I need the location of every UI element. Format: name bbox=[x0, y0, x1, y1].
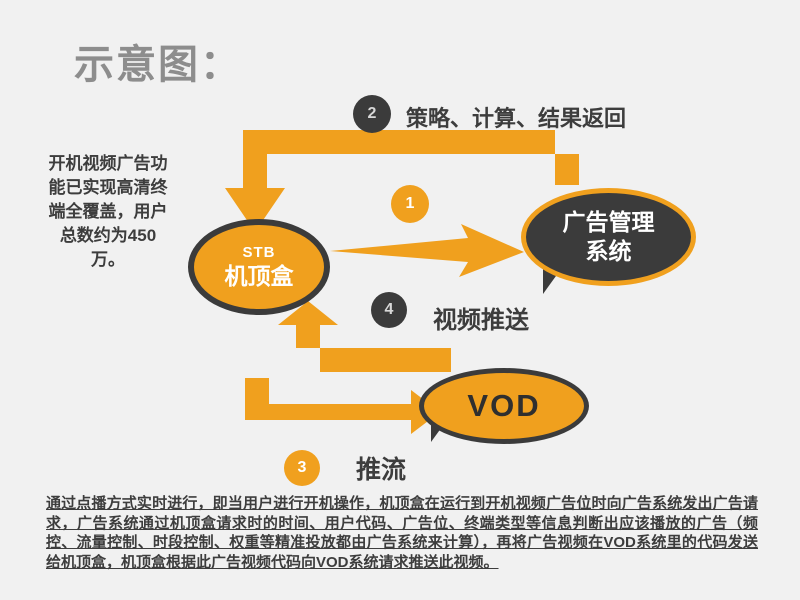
step-badge-4[interactable]: 4 bbox=[371, 292, 407, 328]
node-stb[interactable]: STB 机顶盒 bbox=[188, 219, 330, 315]
bottom-description-text: 通过点播方式实时进行，即当用户进行开机操作，机顶盒在运行到开机视频广告位时向广告… bbox=[46, 494, 758, 572]
step-badge-3[interactable]: 3 bbox=[284, 450, 320, 486]
step-label-3: 推流 bbox=[356, 450, 406, 486]
arrow-stb-to-ads bbox=[330, 224, 524, 277]
arrow-stb-to-vod bbox=[245, 378, 440, 434]
step-badge-2[interactable]: 2 bbox=[353, 95, 391, 133]
node-vod[interactable]: VOD bbox=[419, 368, 589, 444]
step-label-2: 策略、计算、结果返回 bbox=[406, 101, 626, 133]
step-label-4: 视频推送 bbox=[433, 300, 529, 335]
node-ad-management-system[interactable]: 广告管理 系统 bbox=[521, 188, 696, 286]
node-ads-label-line2: 系统 bbox=[586, 237, 632, 266]
node-stb-label-line1: STB bbox=[243, 244, 276, 262]
step-badge-1[interactable]: 1 bbox=[391, 185, 429, 223]
node-ads-label-line1: 广告管理 bbox=[563, 208, 655, 237]
arrow-vod-to-stb bbox=[278, 301, 451, 372]
node-stb-label-line2: 机顶盒 bbox=[225, 262, 294, 290]
diagram-canvas: 示意图： 开机视频广告功能已实现高清终端全覆盖，用户总数约为450万。 广告管理… bbox=[0, 0, 800, 600]
node-vod-label: VOD bbox=[467, 388, 540, 424]
